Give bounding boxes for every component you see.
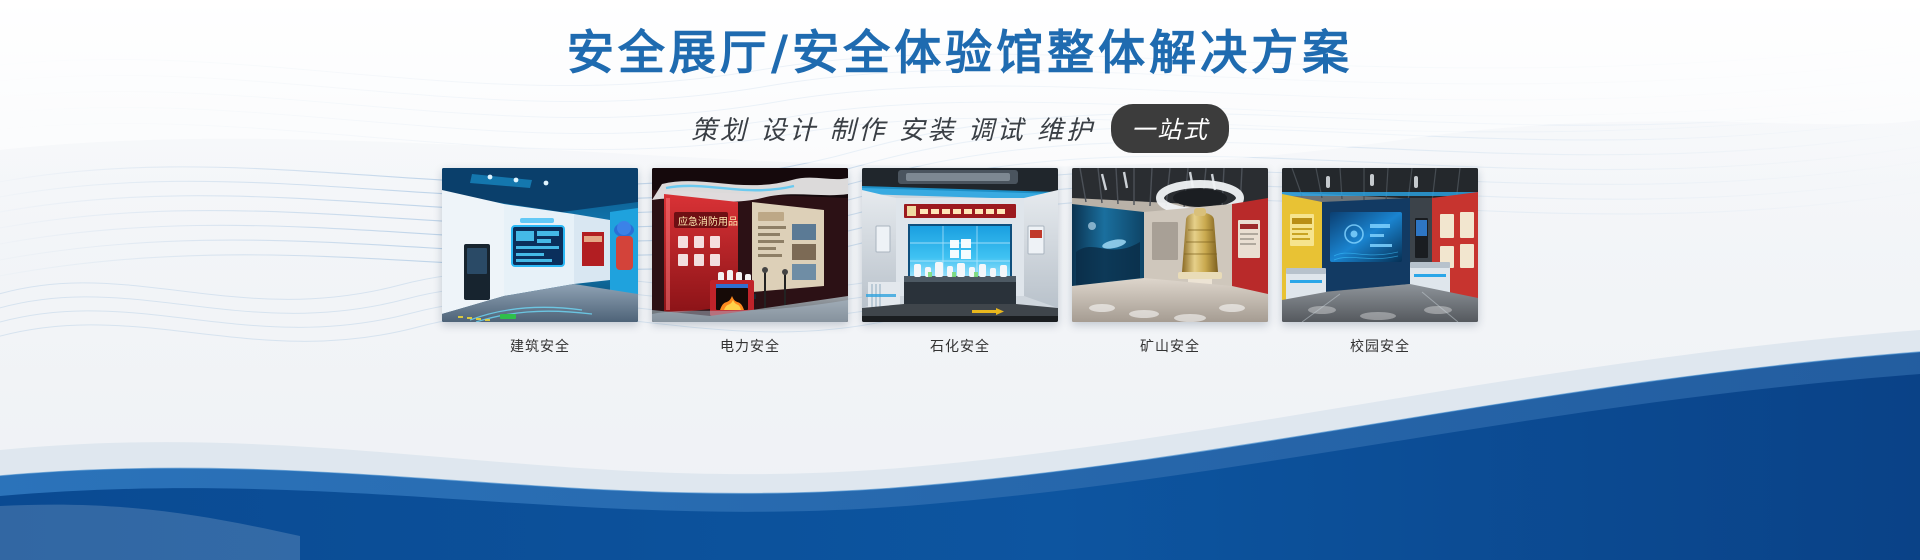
petrochemical-hall-image <box>862 168 1058 322</box>
scenario-card-power[interactable]: 应急消防用品 <box>652 168 848 356</box>
scenario-caption-campus: 校园安全 <box>1350 336 1410 356</box>
scenario-card-construction[interactable]: 建筑安全 <box>442 168 638 356</box>
page-title: 安全展厅/安全体验馆整体解决方案 <box>0 26 1920 81</box>
scenario-card-petrochemical[interactable]: 石化安全 <box>862 168 1058 356</box>
scenario-card-campus[interactable]: 校园安全 <box>1282 168 1478 356</box>
mining-hall-image <box>1072 168 1268 322</box>
power-safety-thumbnail[interactable]: 应急消防用品 <box>652 168 848 322</box>
safety-exhibition-banner: 安全展厅/安全体验馆整体解决方案 策划 设计 制作 安装 调试 维护 一站式 <box>0 0 1920 560</box>
scenario-caption-power: 电力安全 <box>720 336 780 356</box>
svg-text:应急消防用品: 应急消防用品 <box>678 215 738 228</box>
petrochemical-safety-thumbnail[interactable] <box>862 168 1058 322</box>
scenario-caption-mining: 矿山安全 <box>1140 336 1200 356</box>
banner-title-block: 安全展厅/安全体验馆整体解决方案 <box>0 26 1920 81</box>
construction-hall-image <box>442 168 638 322</box>
campus-safety-thumbnail[interactable] <box>1282 168 1478 322</box>
power-hall-image: 应急消防用品 <box>652 168 848 322</box>
mining-safety-thumbnail[interactable] <box>1072 168 1268 322</box>
construction-safety-thumbnail[interactable] <box>442 168 638 322</box>
service-steps-text: 策划 设计 制作 安装 调试 维护 <box>691 110 1095 147</box>
one-stop-badge: 一站式 <box>1111 104 1229 153</box>
scenario-caption-petrochemical: 石化安全 <box>930 336 990 356</box>
banner-subtitle-block: 策划 设计 制作 安装 调试 维护 一站式 <box>0 104 1920 153</box>
campus-hall-image <box>1282 168 1478 322</box>
scenario-card-list: 建筑安全 <box>442 168 1478 356</box>
scenario-card-mining[interactable]: 矿山安全 <box>1072 168 1268 356</box>
scenario-caption-construction: 建筑安全 <box>510 336 570 356</box>
